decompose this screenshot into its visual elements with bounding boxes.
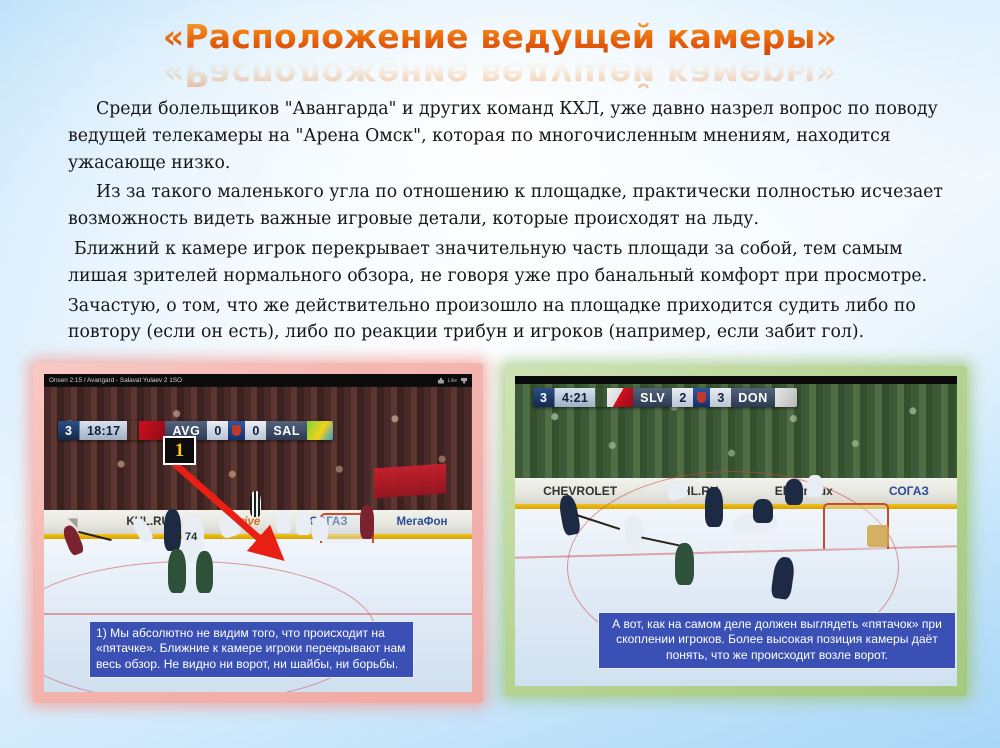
away-team-logo-icon [775,388,797,407]
league-shield-icon [693,388,710,407]
player-figure [807,475,823,497]
video-action-icons: Like [438,378,467,384]
goal-line [44,613,472,615]
board-ad-0: CHEVROLET [543,484,617,498]
scorebug-clock: 4:21 [555,388,595,407]
page-title: «Расположение ведущей камеры» [0,20,1000,55]
left-photo-frame: Onsen 2:15 / Avangard - Salavat Yulaev 2… [33,363,483,703]
left-broadcast-screenshot: Onsen 2:15 / Avangard - Salavat Yulaev 2… [44,374,472,692]
thumb-up-icon[interactable] [438,378,444,384]
body-copy: Среди болельщиков "Авангарда" и других к… [68,96,943,349]
right-scorebug: 3 4:21 SLV 2 3 DON [533,388,797,407]
player-figure [312,517,328,541]
video-title-text: Onsen 2:15 / Avangard - Salavat Yulaev 2… [49,377,182,384]
left-photo-caption: 1) Мы абсолютно не видим того, что проис… [89,621,414,678]
scorebug-gap [127,421,139,440]
league-shield-icon [228,421,245,440]
video-title-strip: Onsen 2:15 / Avangard - Salavat Yulaev 2… [44,374,472,387]
player-figure [675,543,694,585]
away-team-abbr: DON [731,388,775,407]
home-team-score: 0 [207,421,228,440]
board-ad-4: МегаФон [397,516,448,528]
home-team-score: 2 [672,388,693,407]
page-title-reflection: «Расположение ведущей камеры» [0,56,1000,91]
away-team-score: 3 [710,388,731,407]
paragraph-2: Из за такого маленького угла по отношени… [68,179,943,233]
right-photo-frame: CHEVROLET KHL.RU Electrolux СОГАЗ [505,366,967,696]
player-figure [705,487,723,527]
right-photo-caption: А вот, как на самом деле должен выглядет… [598,612,956,669]
slide-title-block: «Расположение ведущей камеры» «Расположе… [0,20,1000,91]
goalie-figure [867,525,889,547]
away-team-abbr: SAL [266,421,307,440]
home-team-logo-icon [139,421,165,440]
paragraph-4: Зачастую, о том, что же действительно пр… [68,293,943,347]
like-icon[interactable]: Like [448,378,457,384]
right-broadcast-screenshot: CHEVROLET KHL.RU Electrolux СОГАЗ [515,376,957,686]
home-team-logo-icon [607,388,633,407]
annotation-arrow-icon [162,452,312,582]
away-team-logo-icon [307,421,333,440]
stand-banner [374,463,446,498]
player-figure [753,499,773,523]
paragraph-3: Ближний к камере игрок перекрывает значи… [68,236,943,290]
paragraph-1: Среди болельщиков "Авангарда" и других к… [68,96,943,176]
thumb-down-icon[interactable] [461,378,467,384]
away-team-score: 0 [245,421,266,440]
board-ad-3: СОГАЗ [889,484,929,498]
scorebug-gap [595,388,607,407]
home-team-abbr: SLV [633,388,672,407]
annotation-marker-1: 1 [163,436,196,465]
scorebug-clock: 18:17 [80,421,127,440]
scorebug-period: 3 [58,421,80,440]
player-figure [360,505,374,539]
slide-canvas: «Расположение ведущей камеры» «Расположе… [0,0,1000,748]
scorebug-period: 3 [533,388,555,407]
player-figure [785,479,803,505]
